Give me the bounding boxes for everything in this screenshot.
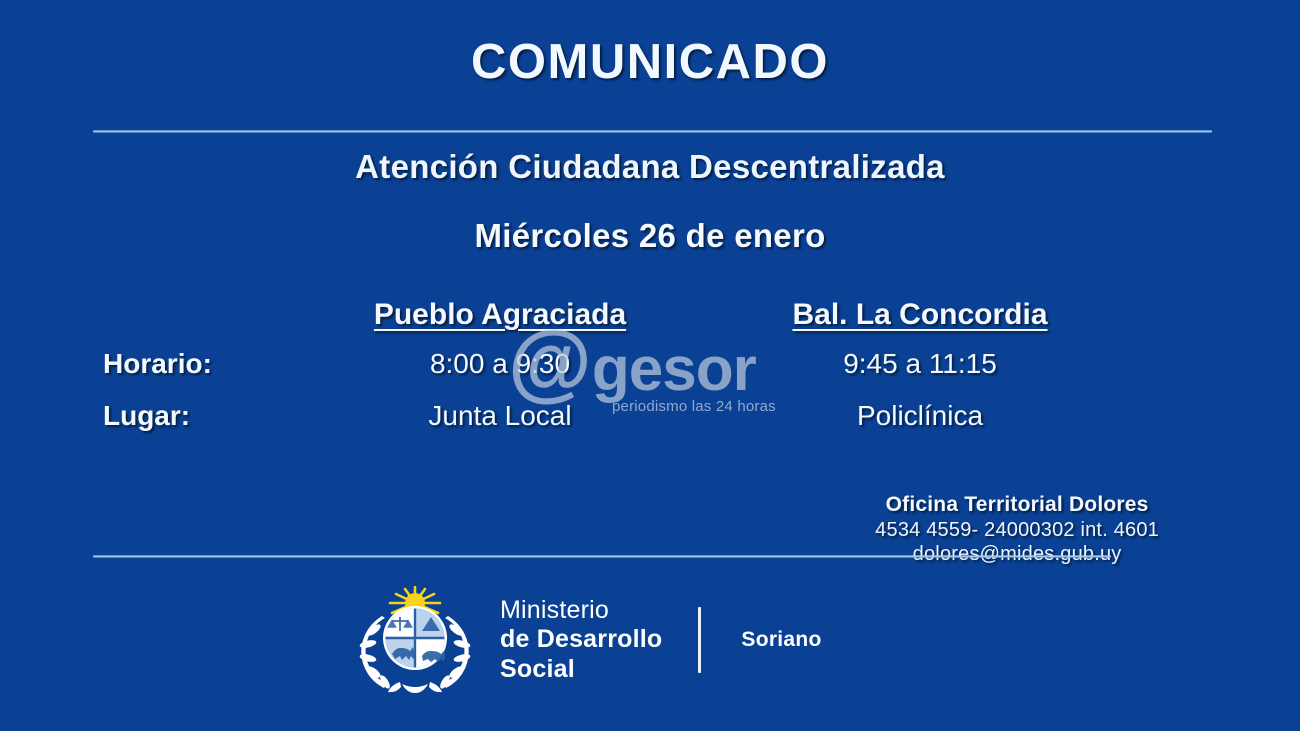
schedule-time-2: 9:45 a 11:15 <box>715 348 1125 380</box>
schedule-column-heading-1: Pueblo Agraciada <box>285 298 715 332</box>
logo-separator <box>698 607 701 673</box>
divider-bottom <box>93 555 1111 558</box>
ministry-line-1: Ministerio <box>500 596 662 625</box>
ministry-name: Ministerio de Desarrollo Social <box>500 596 662 684</box>
ministry-line-3: Social <box>500 655 662 684</box>
contact-phone: 4534 4559- 24000302 int. 4601 <box>875 518 1159 542</box>
footer-logo-lockup: Ministerio de Desarrollo Social Soriano <box>352 586 822 694</box>
subtitle: Atención Ciudadana Descentralizada <box>0 148 1300 186</box>
comunicado-poster: COMUNICADO Atención Ciudadana Descentral… <box>0 0 1300 731</box>
date-line: Miércoles 26 de enero <box>0 217 1300 255</box>
schedule-row-label-time: Horario: <box>95 348 285 380</box>
department-name: Soriano <box>741 628 821 652</box>
schedule-column-heading-2: Bal. La Concordia <box>715 298 1125 332</box>
uruguay-coat-of-arms-icon <box>352 586 478 694</box>
ministry-line-2: de Desarrollo <box>500 625 662 654</box>
divider-top <box>93 130 1212 133</box>
schedule-row-label-place: Lugar: <box>95 400 285 432</box>
schedule-place-2: Policlínica <box>715 400 1125 432</box>
schedule-table: Pueblo Agraciada Bal. La Concordia Horar… <box>95 292 1125 442</box>
contact-office: Oficina Territorial Dolores <box>875 492 1159 518</box>
page-title: COMUNICADO <box>0 38 1300 87</box>
schedule-time-1: 8:00 a 9:30 <box>285 348 715 380</box>
schedule-place-1: Junta Local <box>285 400 715 432</box>
